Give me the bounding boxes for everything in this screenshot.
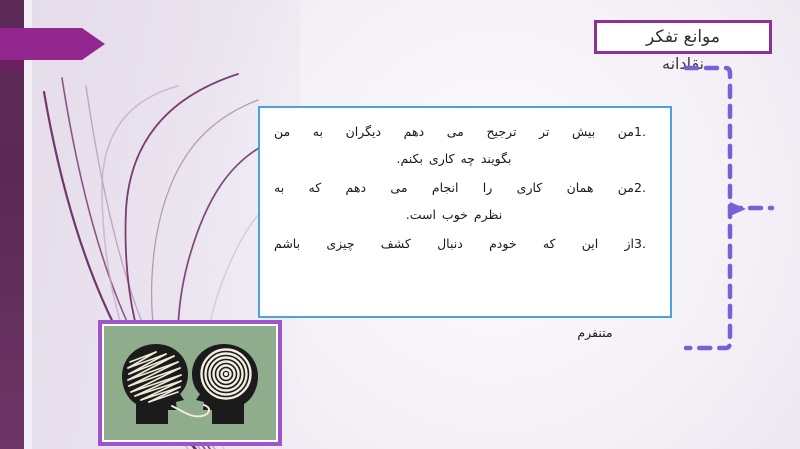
list-item-text: از این که خودم دنبال کشف چیزی باشم xyxy=(274,230,634,257)
list-item-line: من همان کاری را انجام می دهم که به xyxy=(274,174,634,201)
page-title-box: موانع تفکر xyxy=(594,20,772,54)
left-accent-strip-gap xyxy=(24,0,32,449)
list-item: 1. من بیش تر ترجیح می دهم دیگران به من ب… xyxy=(274,118,656,172)
trailing-text: متنفرم xyxy=(520,325,670,340)
list-item-line: از این که خودم دنبال کشف چیزی باشم xyxy=(274,230,634,257)
slide-canvas: موانع تفکر نقادانه 1. من بیش تر ترجیح می… xyxy=(0,0,800,449)
picture-canvas xyxy=(104,326,276,440)
page-subtitle: نقادانه xyxy=(594,54,772,73)
picture-frame xyxy=(98,320,282,446)
list-item-line: بگویند چه کاری بکنم. xyxy=(274,145,634,172)
list-item-text: من بیش تر ترجیح می دهم دیگران به من بگوی… xyxy=(274,118,634,172)
purple-arrow-banner-shadow xyxy=(0,60,24,72)
list-item-line: نظرم خوب است. xyxy=(274,201,634,228)
picture-mat xyxy=(102,324,278,442)
list-item-number: 1. xyxy=(634,118,656,145)
page-title: موانع تفکر xyxy=(646,27,720,47)
content-text-box: 1. من بیش تر ترجیح می دهم دیگران به من ب… xyxy=(258,106,672,318)
list-item-number: 2. xyxy=(634,174,656,201)
list-item-number: 3. xyxy=(634,230,656,257)
list-item: 3. از این که خودم دنبال کشف چیزی باشم xyxy=(274,230,656,257)
list-item-text: من همان کاری را انجام می دهم که به نظرم … xyxy=(274,174,634,228)
two-heads-illustration xyxy=(104,326,276,440)
list-item-line: من بیش تر ترجیح می دهم دیگران به من xyxy=(274,118,634,145)
list-item: 2. من همان کاری را انجام می دهم که به نظ… xyxy=(274,174,656,228)
numbered-statement-list: 1. من بیش تر ترجیح می دهم دیگران به من ب… xyxy=(274,118,656,257)
